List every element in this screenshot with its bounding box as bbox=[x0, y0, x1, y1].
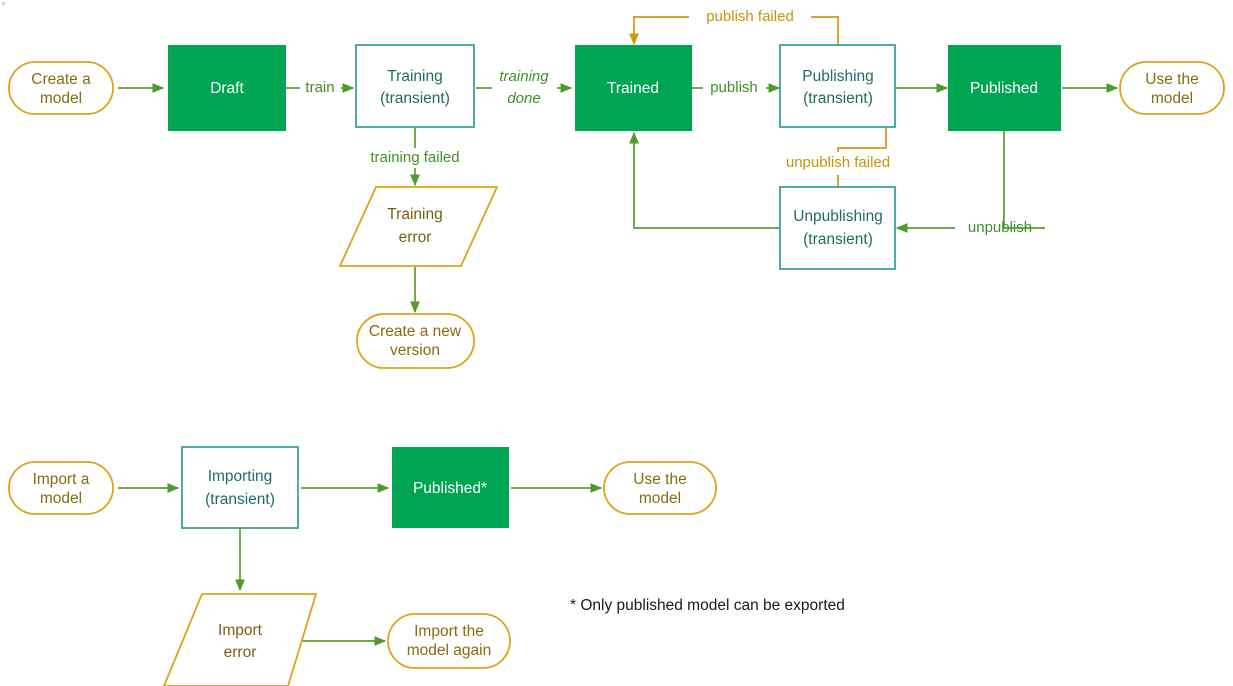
node-import-error-label-line1: Import bbox=[218, 622, 263, 639]
node-published-label: Published bbox=[970, 80, 1038, 97]
node-create-a-model[interactable]: Create a model bbox=[9, 62, 113, 114]
edge-label-train: train bbox=[305, 79, 334, 96]
node-importing-label-line2: (transient) bbox=[205, 491, 275, 508]
node-create-a-new-version-label-line1: Create a new bbox=[369, 323, 462, 340]
node-published[interactable]: Published bbox=[948, 45, 1061, 131]
node-publishing-label-line1: Publishing bbox=[802, 68, 874, 85]
edge-label-publish: publish bbox=[710, 79, 758, 96]
edge-label-unpublish: unpublish bbox=[968, 219, 1032, 236]
edge-label-training-done-line1: training bbox=[499, 68, 549, 85]
edge-publish-failed-right bbox=[811, 17, 838, 46]
node-draft[interactable]: Draft bbox=[168, 45, 286, 131]
node-use-the-model-bottom-label-line2: model bbox=[639, 490, 681, 507]
node-import-a-model[interactable]: Import a model bbox=[9, 462, 113, 514]
node-training-label-line2: (transient) bbox=[380, 90, 450, 107]
node-importing-transient[interactable]: Importing (transient) bbox=[182, 447, 298, 528]
node-training-transient[interactable]: Training (transient) bbox=[356, 45, 474, 127]
node-publishing-shape bbox=[780, 45, 895, 127]
node-publishing-transient[interactable]: Publishing (transient) bbox=[780, 45, 895, 127]
node-trained[interactable]: Trained bbox=[575, 45, 692, 131]
node-unpublishing-transient[interactable]: Unpublishing (transient) bbox=[780, 187, 895, 269]
node-use-the-model-top-label-line2: model bbox=[1151, 90, 1193, 107]
edge-label-publish-failed: publish failed bbox=[706, 8, 794, 25]
node-import-a-model-label-line2: model bbox=[40, 490, 82, 507]
node-create-a-model-label-line2: model bbox=[40, 90, 82, 107]
node-import-error-label-line2: error bbox=[224, 644, 257, 661]
edge-publish-failed-left bbox=[634, 17, 689, 44]
node-published-star[interactable]: Published* bbox=[392, 447, 509, 528]
node-import-the-model-again-label-line1: Import the bbox=[414, 623, 484, 640]
node-create-a-new-version-shape bbox=[357, 314, 474, 368]
node-training-shape bbox=[356, 45, 474, 127]
node-create-a-new-version[interactable]: Create a new version bbox=[357, 314, 474, 368]
node-unpublishing-shape bbox=[780, 187, 895, 269]
node-training-error-shape bbox=[340, 187, 497, 266]
node-trained-label: Trained bbox=[607, 80, 659, 97]
node-training-error[interactable]: Training error bbox=[340, 187, 497, 266]
node-draft-label: Draft bbox=[210, 80, 244, 97]
footnote-text: * Only published model can be exported bbox=[570, 597, 845, 614]
node-training-error-label-line1: Training bbox=[387, 206, 442, 223]
node-import-the-model-again-label-line2: model again bbox=[407, 642, 491, 659]
node-training-label-line1: Training bbox=[387, 68, 442, 85]
training-flow-group: Create a model Draft Training (transient… bbox=[9, 8, 1224, 368]
node-unpublishing-label-line1: Unpublishing bbox=[793, 208, 883, 225]
node-training-error-label-line2: error bbox=[399, 229, 432, 246]
edge-label-unpublish-failed: unpublish failed bbox=[786, 154, 890, 171]
node-import-the-model-again-shape bbox=[388, 614, 510, 668]
state-diagram: Create a model Draft Training (transient… bbox=[0, 0, 1233, 686]
import-flow-group: Import a model Importing (transient) Pub… bbox=[9, 447, 716, 686]
node-importing-shape bbox=[182, 447, 298, 528]
node-unpublishing-label-line2: (transient) bbox=[803, 231, 873, 248]
node-import-a-model-label-line1: Import a bbox=[33, 471, 90, 488]
node-create-a-model-label-line1: Create a bbox=[31, 71, 91, 88]
edge-published-to-unpublish-down bbox=[1004, 128, 1045, 228]
edge-unpublishing-to-trained bbox=[634, 133, 779, 228]
node-published-star-label: Published* bbox=[413, 480, 487, 497]
node-importing-label-line1: Importing bbox=[208, 468, 273, 485]
node-use-the-model-bottom-label-line1: Use the bbox=[633, 471, 686, 488]
diagram-canvas: Create a model Draft Training (transient… bbox=[0, 0, 1233, 686]
node-use-the-model-top[interactable]: Use the model bbox=[1120, 62, 1224, 114]
node-use-the-model-bottom[interactable]: Use the model bbox=[604, 462, 716, 514]
corner-tick-decoration bbox=[2, 2, 5, 5]
node-import-the-model-again[interactable]: Import the model again bbox=[388, 614, 510, 668]
edge-label-training-done-line2: done bbox=[507, 90, 540, 107]
node-use-the-model-top-label-line1: Use the bbox=[1145, 71, 1198, 88]
edge-label-training-failed: training failed bbox=[370, 149, 459, 166]
node-import-error-shape bbox=[164, 594, 316, 686]
node-import-error[interactable]: Import error bbox=[164, 594, 316, 686]
node-create-a-new-version-label-line2: version bbox=[390, 342, 440, 359]
node-publishing-label-line2: (transient) bbox=[803, 90, 873, 107]
